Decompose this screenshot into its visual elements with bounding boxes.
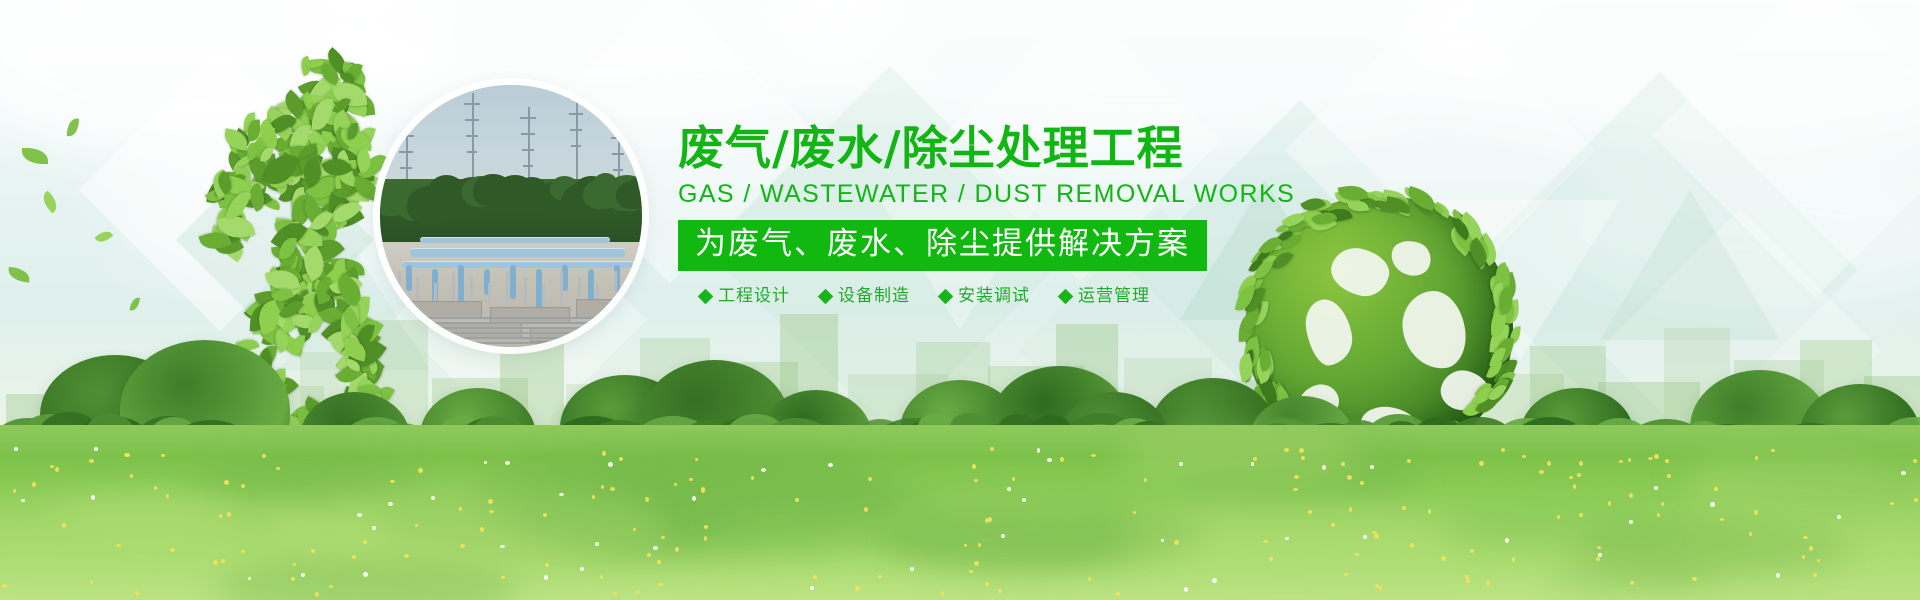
service-bullet-4: 运营管理: [1060, 288, 1150, 305]
promo-banner: 废气/废水/除尘处理工程 GAS / WASTEWATER / DUST REM…: [0, 0, 1920, 600]
floating-leaf: [95, 228, 113, 246]
floating-leaf: [129, 296, 140, 311]
service-bullet-3: 安装调试: [940, 288, 1030, 305]
diamond-bullet-icon: [698, 289, 714, 305]
service-bullet-label: 安装调试: [958, 288, 1030, 305]
floating-leaf: [299, 91, 316, 110]
service-bullet-2: 设备制造: [820, 288, 910, 305]
service-bullet-1: 工程设计: [700, 288, 790, 305]
floating-leaf: [67, 118, 79, 137]
slogan-bar: 为废气、废水、除尘提供解决方案: [678, 220, 1207, 271]
service-bullet-label: 设备制造: [838, 288, 910, 305]
diamond-bullet-icon: [1058, 289, 1074, 305]
diamond-bullet-icon: [818, 289, 834, 305]
service-bullet-list: 工程设计设备制造安装调试运营管理: [678, 288, 1198, 305]
diamond-bullet-icon: [938, 289, 954, 305]
service-bullet-label: 工程设计: [718, 288, 790, 305]
banner-text-block: 废气/废水/除尘处理工程 GAS / WASTEWATER / DUST REM…: [678, 125, 1198, 305]
floating-leaf: [39, 191, 61, 214]
slogan-text: 为废气、废水、除尘提供解决方案: [695, 226, 1190, 262]
banner-headline: 废气/废水/除尘处理工程: [678, 125, 1198, 171]
floating-leaf: [7, 267, 31, 283]
banner-subheadline-english: GAS / WASTEWATER / DUST REMOVAL WORKS: [678, 182, 1198, 207]
service-bullet-label: 运营管理: [1078, 288, 1150, 305]
floating-leaf: [22, 148, 48, 164]
